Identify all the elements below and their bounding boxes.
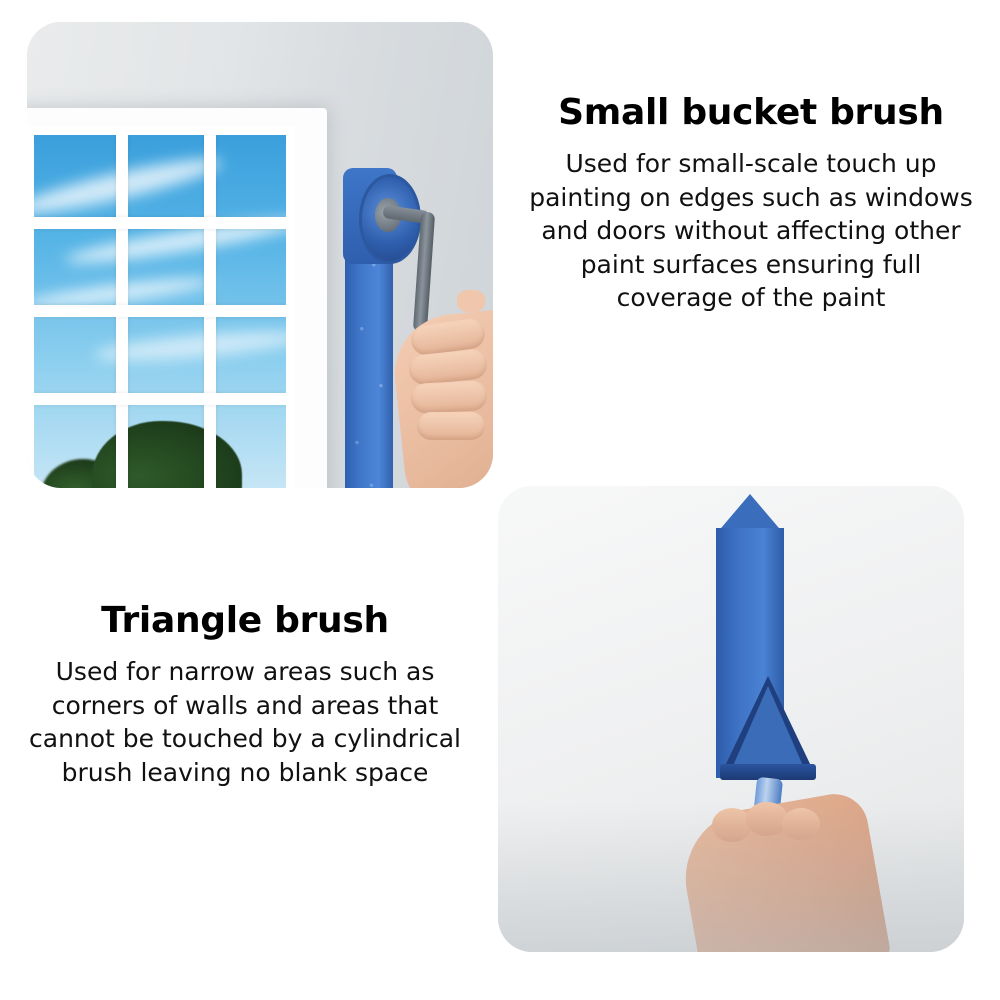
triangle-brush-photo (498, 486, 964, 952)
window-mullion-horizontal (34, 305, 286, 317)
wall-shadow (498, 802, 964, 952)
window-mullion-horizontal (34, 217, 286, 229)
product-infographic: Small bucket brush Used for small-scale … (0, 0, 1000, 1000)
triangle-brush-text: Triangle brush Used for narrow areas suc… (10, 600, 480, 789)
triangle-brush-heading: Triangle brush (10, 600, 480, 641)
thumb (457, 290, 485, 312)
finger (417, 412, 485, 440)
finger (410, 380, 487, 414)
window-frame-inner (27, 126, 295, 488)
window-sky (34, 135, 286, 488)
small-bucket-brush-text: Small bucket brush Used for small-scale … (520, 92, 982, 315)
cloud-icon (34, 150, 224, 223)
small-bucket-brush-photo (27, 22, 493, 488)
window-frame (27, 108, 327, 488)
triangle-brush-description: Used for narrow areas such as corners of… (10, 655, 480, 789)
triangle-brush-face (732, 686, 804, 768)
tree-icon (92, 421, 242, 488)
small-bucket-brush-description: Used for small-scale touch up painting o… (520, 147, 982, 315)
small-bucket-brush-heading: Small bucket brush (520, 92, 982, 133)
window-mullion-horizontal (34, 393, 286, 405)
